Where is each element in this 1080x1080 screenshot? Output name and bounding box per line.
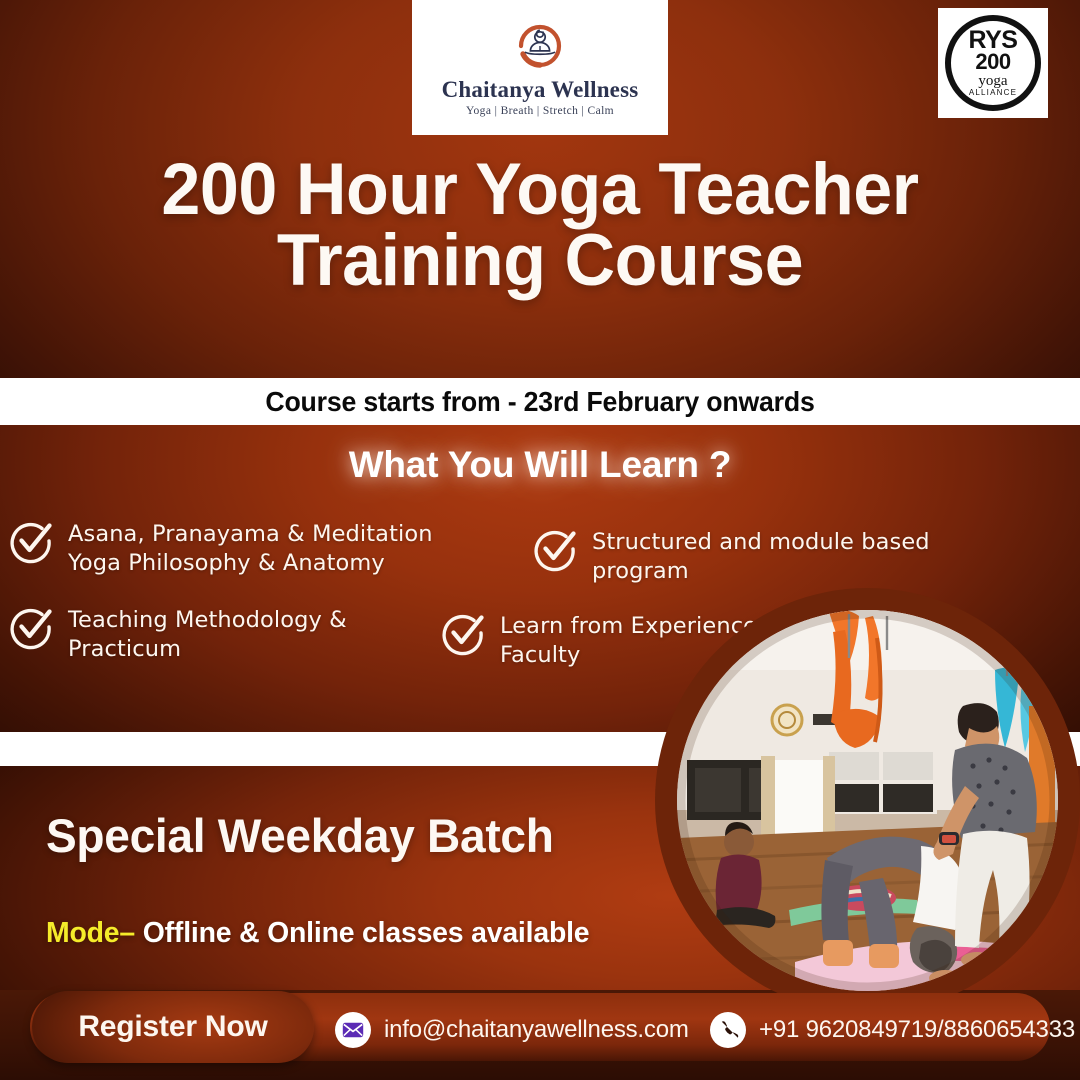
yoga-alliance-badge: RYS 200 yoga ALLIANCE	[938, 8, 1048, 118]
contact-phone-text: +91 9620849719/8860654333	[759, 1016, 1075, 1044]
phone-icon	[710, 1012, 746, 1048]
list-item: Structured and module based program	[532, 528, 1002, 586]
studio-photo	[655, 588, 1080, 1013]
list-item-label: Teaching Methodology & Practicum	[68, 606, 448, 664]
list-item: Asana, Pranayama & Meditation Yoga Philo…	[8, 520, 488, 578]
photo-image	[677, 610, 1058, 991]
meditation-figure-circle-icon	[509, 18, 571, 76]
mode-dash: –	[119, 917, 135, 949]
page-title: 200 Hour Yoga Teacher Training Course	[22, 155, 1059, 297]
poster-root: Chaitanya Wellness Yoga | Breath | Stret…	[0, 0, 1080, 1080]
batch-title: Special Weekday Batch	[46, 808, 554, 863]
contact-phone[interactable]: +91 9620849719/8860654333	[710, 1012, 1075, 1048]
section-title-learn: What You Will Learn ?	[0, 444, 1080, 486]
headline-line-1: 200 Hour Yoga Teacher	[58, 155, 1022, 226]
list-item-label: Asana, Pranayama & Meditation Yoga Philo…	[68, 520, 488, 578]
contact-email-text: info@chaitanyawellness.com	[384, 1016, 689, 1044]
contact-email[interactable]: info@chaitanyawellness.com	[335, 1012, 689, 1048]
mode-line: Mode– Offline & Online classes available	[46, 917, 589, 950]
mode-value: Offline & Online classes available	[143, 917, 590, 949]
mode-label: Mode	[46, 917, 119, 949]
list-item: Teaching Methodology & Practicum	[8, 606, 448, 664]
register-now-label: Register Now	[78, 1010, 267, 1044]
photo-illustration	[677, 610, 1058, 991]
rys-hours: 200	[975, 52, 1010, 73]
headline-line-2: Training Course	[58, 226, 1022, 297]
yoga-word: yoga	[978, 74, 1007, 89]
alliance-word: ALLIANCE	[969, 89, 1017, 97]
check-circle-icon	[532, 526, 578, 572]
check-circle-icon	[440, 610, 486, 656]
check-circle-icon	[8, 604, 54, 650]
envelope-icon	[335, 1012, 371, 1048]
brand-name: Chaitanya Wellness	[442, 78, 639, 101]
brand-tagline: Yoga | Breath | Stretch | Calm	[466, 105, 614, 117]
brand-logo: Chaitanya Wellness Yoga | Breath | Stret…	[412, 0, 668, 135]
list-item-label: Structured and module based program	[592, 528, 1002, 586]
register-now-button[interactable]: Register Now	[32, 991, 314, 1063]
start-date-text: Course starts from - 23rd February onwar…	[16, 378, 1064, 425]
footer-bar: Register Now info@chaitanyawellness.com …	[30, 993, 1050, 1061]
check-circle-icon	[8, 518, 54, 564]
